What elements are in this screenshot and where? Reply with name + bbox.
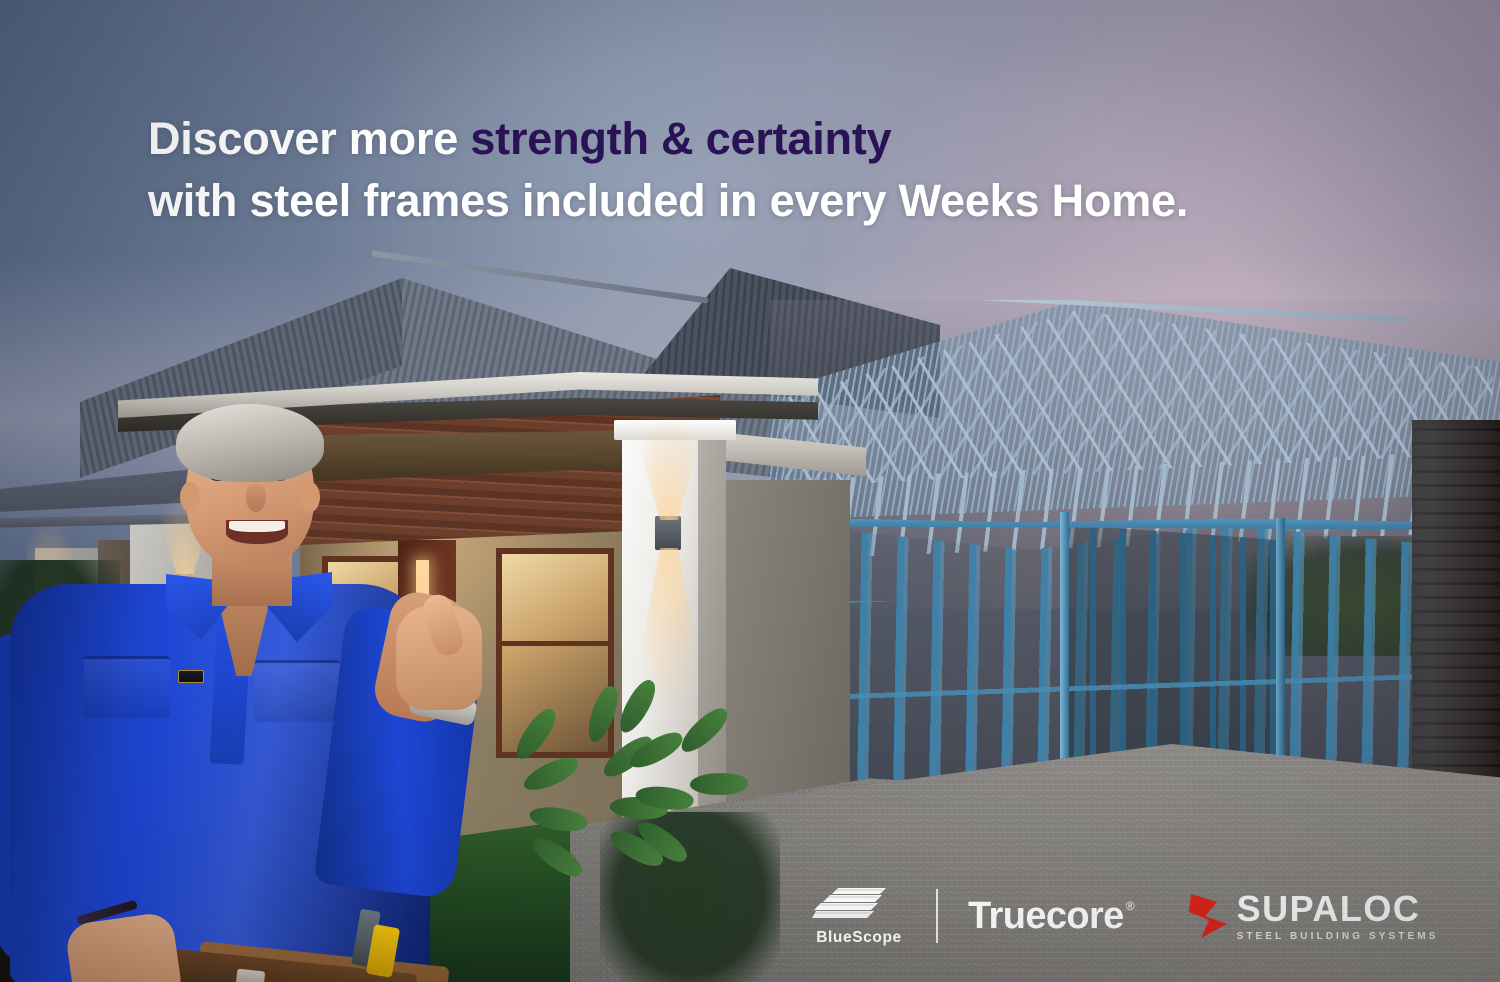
truecore-wordmark: Truecore	[968, 897, 1124, 935]
belt-buckle	[235, 969, 266, 982]
wave-stack-icon	[812, 886, 906, 924]
leaf	[633, 815, 692, 869]
supaloc-tagline: STEEL BUILDING SYSTEMS	[1237, 931, 1439, 942]
truecore-logo[interactable]: Truecore ®	[968, 897, 1135, 935]
ear-left	[180, 482, 200, 512]
headline-accent: strength & certainty	[470, 113, 891, 164]
headline-line1-lead: Discover more	[148, 113, 470, 164]
leaf	[634, 782, 695, 814]
leaf	[625, 728, 687, 773]
advertising-banner: Discover more strength & certainty with …	[0, 0, 1500, 982]
ear-right	[300, 482, 320, 512]
leaf	[690, 772, 749, 796]
bluescope-wordmark: BlueScope	[816, 929, 902, 947]
leaf	[509, 705, 562, 764]
leaf	[528, 802, 589, 836]
hair	[176, 404, 324, 482]
column-wall-light-icon	[655, 516, 681, 550]
partner-logo-bar: BlueScope Truecore ® SUPALOC STEEL BUILD…	[812, 880, 1438, 952]
leaf	[520, 753, 582, 795]
logo-divider	[936, 889, 938, 943]
leaf	[527, 830, 586, 883]
window-mullion	[502, 641, 608, 646]
shirt-pocket-right	[254, 660, 340, 722]
leaf	[675, 703, 734, 757]
page-title: Discover more strength & certainty with …	[148, 108, 1368, 232]
teeth	[229, 521, 285, 532]
mouth	[226, 520, 288, 544]
nose	[246, 484, 266, 512]
foreground-plant	[596, 690, 776, 880]
shirt-brand-tag	[178, 670, 204, 683]
supaloc-wordmark: SUPALOC	[1237, 891, 1439, 927]
supaloc-logo[interactable]: SUPALOC STEEL BUILDING SYSTEMS	[1187, 890, 1439, 942]
registered-trademark-icon: ®	[1126, 899, 1135, 913]
shirt-pocket-left	[84, 656, 170, 718]
headline-line2: with steel frames included in every Week…	[148, 175, 1188, 226]
bluescope-logo[interactable]: BlueScope	[812, 886, 906, 947]
red-lightning-icon	[1187, 890, 1231, 942]
supaloc-text-block: SUPALOC STEEL BUILDING SYSTEMS	[1237, 891, 1439, 942]
presenter-figure	[0, 398, 470, 982]
